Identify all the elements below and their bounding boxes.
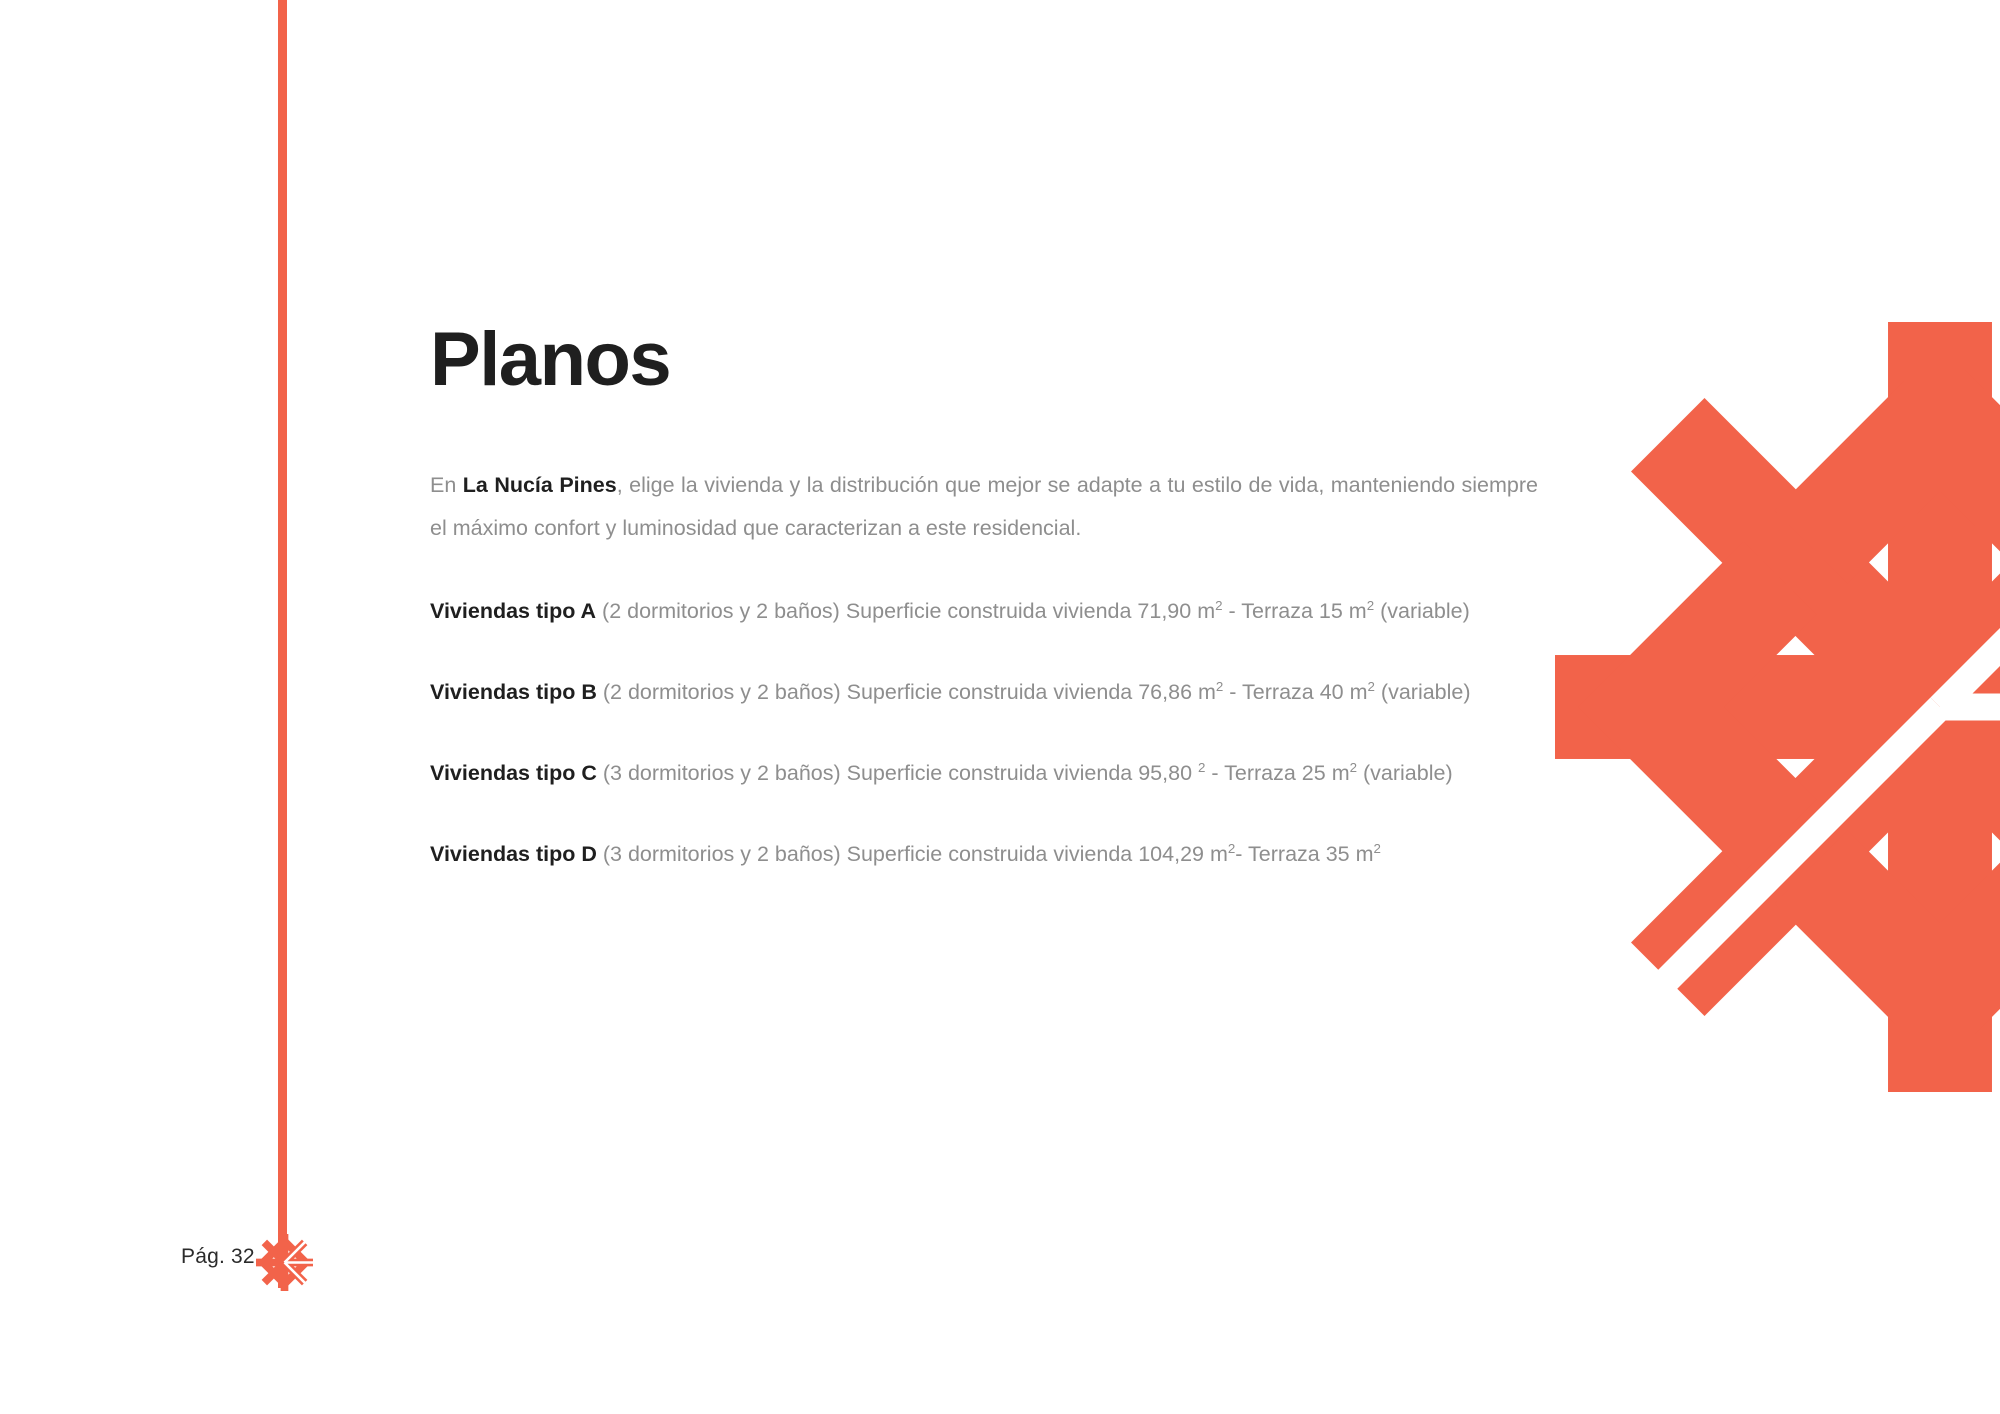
- typology-a-rooms: (2 dormitorios y 2 baños) Superficie con…: [596, 599, 1215, 623]
- vertical-rule: [278, 0, 287, 1288]
- typology-b-label: Viviendas tipo B: [430, 680, 597, 704]
- typology-c-rooms: (3 dormitorios y 2 baños) Superficie con…: [597, 761, 1198, 785]
- page-title: Planos: [430, 322, 1538, 398]
- typology-d-label: Viviendas tipo D: [430, 842, 597, 866]
- intro-project-name: La Nucía Pines: [463, 473, 617, 497]
- typology-a-tail: - Terraza 15 m: [1223, 599, 1367, 623]
- typology-a: Viviendas tipo A (2 dormitorios y 2 baño…: [430, 590, 1538, 633]
- typology-d-sup2: 2: [1374, 841, 1381, 856]
- intro-prefix: En: [430, 473, 463, 497]
- typology-c-sup2: 2: [1350, 760, 1357, 775]
- typology-b-tail: - Terraza 40 m: [1223, 680, 1367, 704]
- typology-b: Viviendas tipo B (2 dormitorios y 2 baño…: [430, 671, 1538, 714]
- typology-a-label: Viviendas tipo A: [430, 599, 596, 623]
- typology-d: Viviendas tipo D (3 dormitorios y 2 baño…: [430, 833, 1538, 876]
- typology-c-label: Viviendas tipo C: [430, 761, 597, 785]
- typology-a-sup1: 2: [1215, 598, 1222, 613]
- content-column: Planos En La Nucía Pines, elige la vivie…: [430, 322, 1538, 914]
- typology-b-sup2: 2: [1368, 679, 1375, 694]
- typology-a-tail2: (variable): [1374, 599, 1470, 623]
- asterisk-mark-large-icon: [1555, 322, 2000, 1092]
- typology-d-rooms: (3 dormitorios y 2 baños) Superficie con…: [597, 842, 1228, 866]
- typology-c-tail2: (variable): [1357, 761, 1453, 785]
- intro-paragraph: En La Nucía Pines, elige la vivienda y l…: [430, 464, 1538, 550]
- page-number: Pág. 32: [181, 1245, 255, 1269]
- document-page: Planos En La Nucía Pines, elige la vivie…: [0, 0, 2000, 1414]
- typology-d-tail: - Terraza 35 m: [1235, 842, 1373, 866]
- typology-c: Viviendas tipo C (3 dormitorios y 2 baño…: [430, 752, 1538, 795]
- typology-b-rooms: (2 dormitorios y 2 baños) Superficie con…: [597, 680, 1216, 704]
- typology-c-tail: - Terraza 25 m: [1205, 761, 1349, 785]
- typology-b-tail2: (variable): [1375, 680, 1471, 704]
